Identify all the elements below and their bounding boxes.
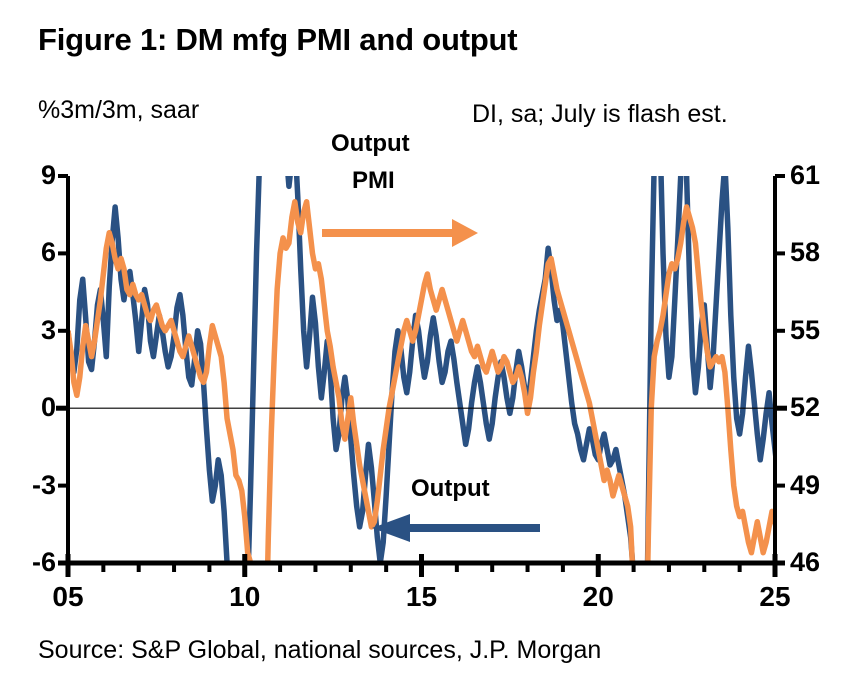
right-axis-tick-label: 52 bbox=[790, 394, 852, 421]
right-axis-tick-label: 58 bbox=[790, 239, 852, 266]
left-axis-tick-label: 9 bbox=[0, 162, 56, 189]
annotation-pmi-line1: Output bbox=[331, 130, 410, 158]
series-line-output-pmi bbox=[68, 202, 843, 689]
x-axis-tick-label: 20 bbox=[583, 583, 614, 611]
annotation-pmi-line2: PMI bbox=[352, 167, 395, 195]
right-axis-tick-label: 55 bbox=[790, 317, 852, 344]
left-axis-tick-label: 0 bbox=[0, 394, 56, 421]
right-axis-tick-label: 61 bbox=[790, 162, 852, 189]
right-axis-tick-label: 46 bbox=[790, 549, 852, 576]
right-axis-unit-label: DI, sa; July is flash est. bbox=[472, 100, 728, 129]
figure-title: Figure 1: DM mfg PMI and output bbox=[38, 22, 517, 58]
x-axis-tick-label: 15 bbox=[406, 583, 437, 611]
left-axis-tick-label: 3 bbox=[0, 317, 56, 344]
source-note: Source: S&P Global, national sources, J.… bbox=[38, 636, 601, 665]
figure-container: Figure 1: DM mfg PMI and output %3m/3m, … bbox=[0, 0, 852, 689]
x-axis-tick-label: 10 bbox=[229, 583, 260, 611]
left-axis-tick-label: -3 bbox=[0, 472, 56, 499]
series-group bbox=[68, 99, 843, 689]
x-axis-tick-label: 05 bbox=[52, 583, 83, 611]
pmi-arrow-head bbox=[452, 219, 478, 247]
right-axis-tick-label: 49 bbox=[790, 472, 852, 499]
x-axis-tick-label: 25 bbox=[759, 583, 790, 611]
annotation-output: Output bbox=[411, 475, 490, 503]
left-axis-tick-label: -6 bbox=[0, 549, 56, 576]
left-axis-unit-label: %3m/3m, saar bbox=[38, 96, 199, 125]
left-axis-tick-label: 6 bbox=[0, 239, 56, 266]
